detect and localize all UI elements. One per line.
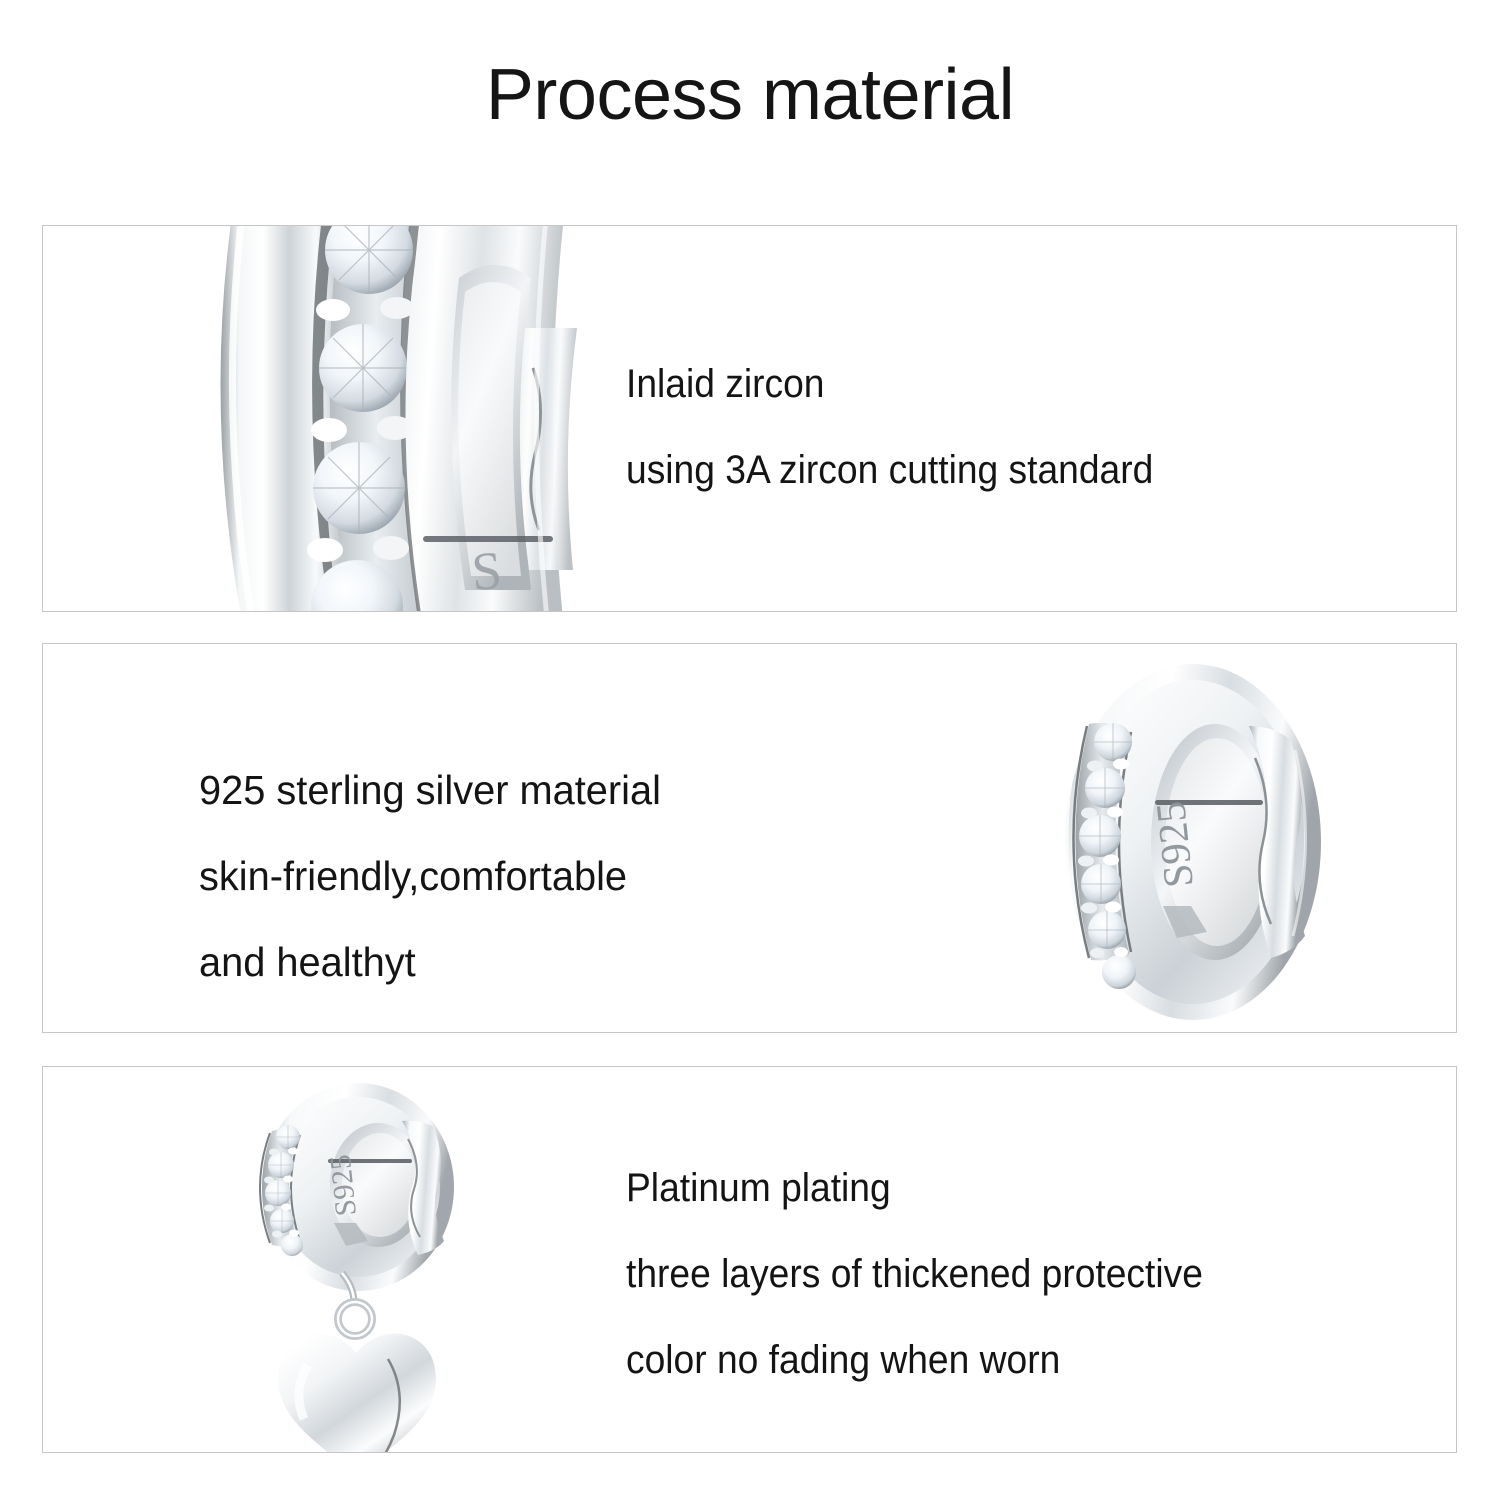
panel-1-line-1: Inlaid zircon <box>626 341 1153 427</box>
panel-2-line-2: skin-friendly,comfortable <box>199 833 661 919</box>
s925-stamp: S925 <box>324 1153 363 1218</box>
panel-1-line-2: using 3A zircon cutting standard <box>626 427 1153 513</box>
feature-panel-sterling-silver: 925 sterling silver material skin-friend… <box>42 643 1457 1033</box>
zircon-macro-photo: S <box>173 225 593 612</box>
panel-2-line-3: and healthyt <box>199 919 661 1005</box>
panel-3-line-2: three layers of thickened protective <box>626 1231 1203 1317</box>
s925-stamp: S925 <box>1148 799 1203 890</box>
s925-stamp-letter: S <box>470 540 504 602</box>
panel-3-line-3: color no fading when worn <box>626 1317 1203 1403</box>
page-title: Process material <box>0 55 1500 135</box>
panel-2-text: 925 sterling silver material skin-friend… <box>199 747 661 1005</box>
sterling-silver-charm-photo: S925 <box>1043 654 1343 1029</box>
feature-panel-zircon: S Inlaid zircon using 3A zircon cutting … <box>42 225 1457 612</box>
feature-panel-platinum-plating: S925 Platinum plating three layers of th… <box>42 1066 1457 1453</box>
panel-2-line-1: 925 sterling silver material <box>199 747 661 833</box>
platinum-plated-heart-pendant-photo: S925 <box>238 1075 508 1453</box>
panel-1-text: Inlaid zircon using 3A zircon cutting st… <box>626 341 1153 513</box>
panel-3-text: Platinum plating three layers of thicken… <box>626 1145 1203 1403</box>
panel-3-line-1: Platinum plating <box>626 1145 1203 1231</box>
